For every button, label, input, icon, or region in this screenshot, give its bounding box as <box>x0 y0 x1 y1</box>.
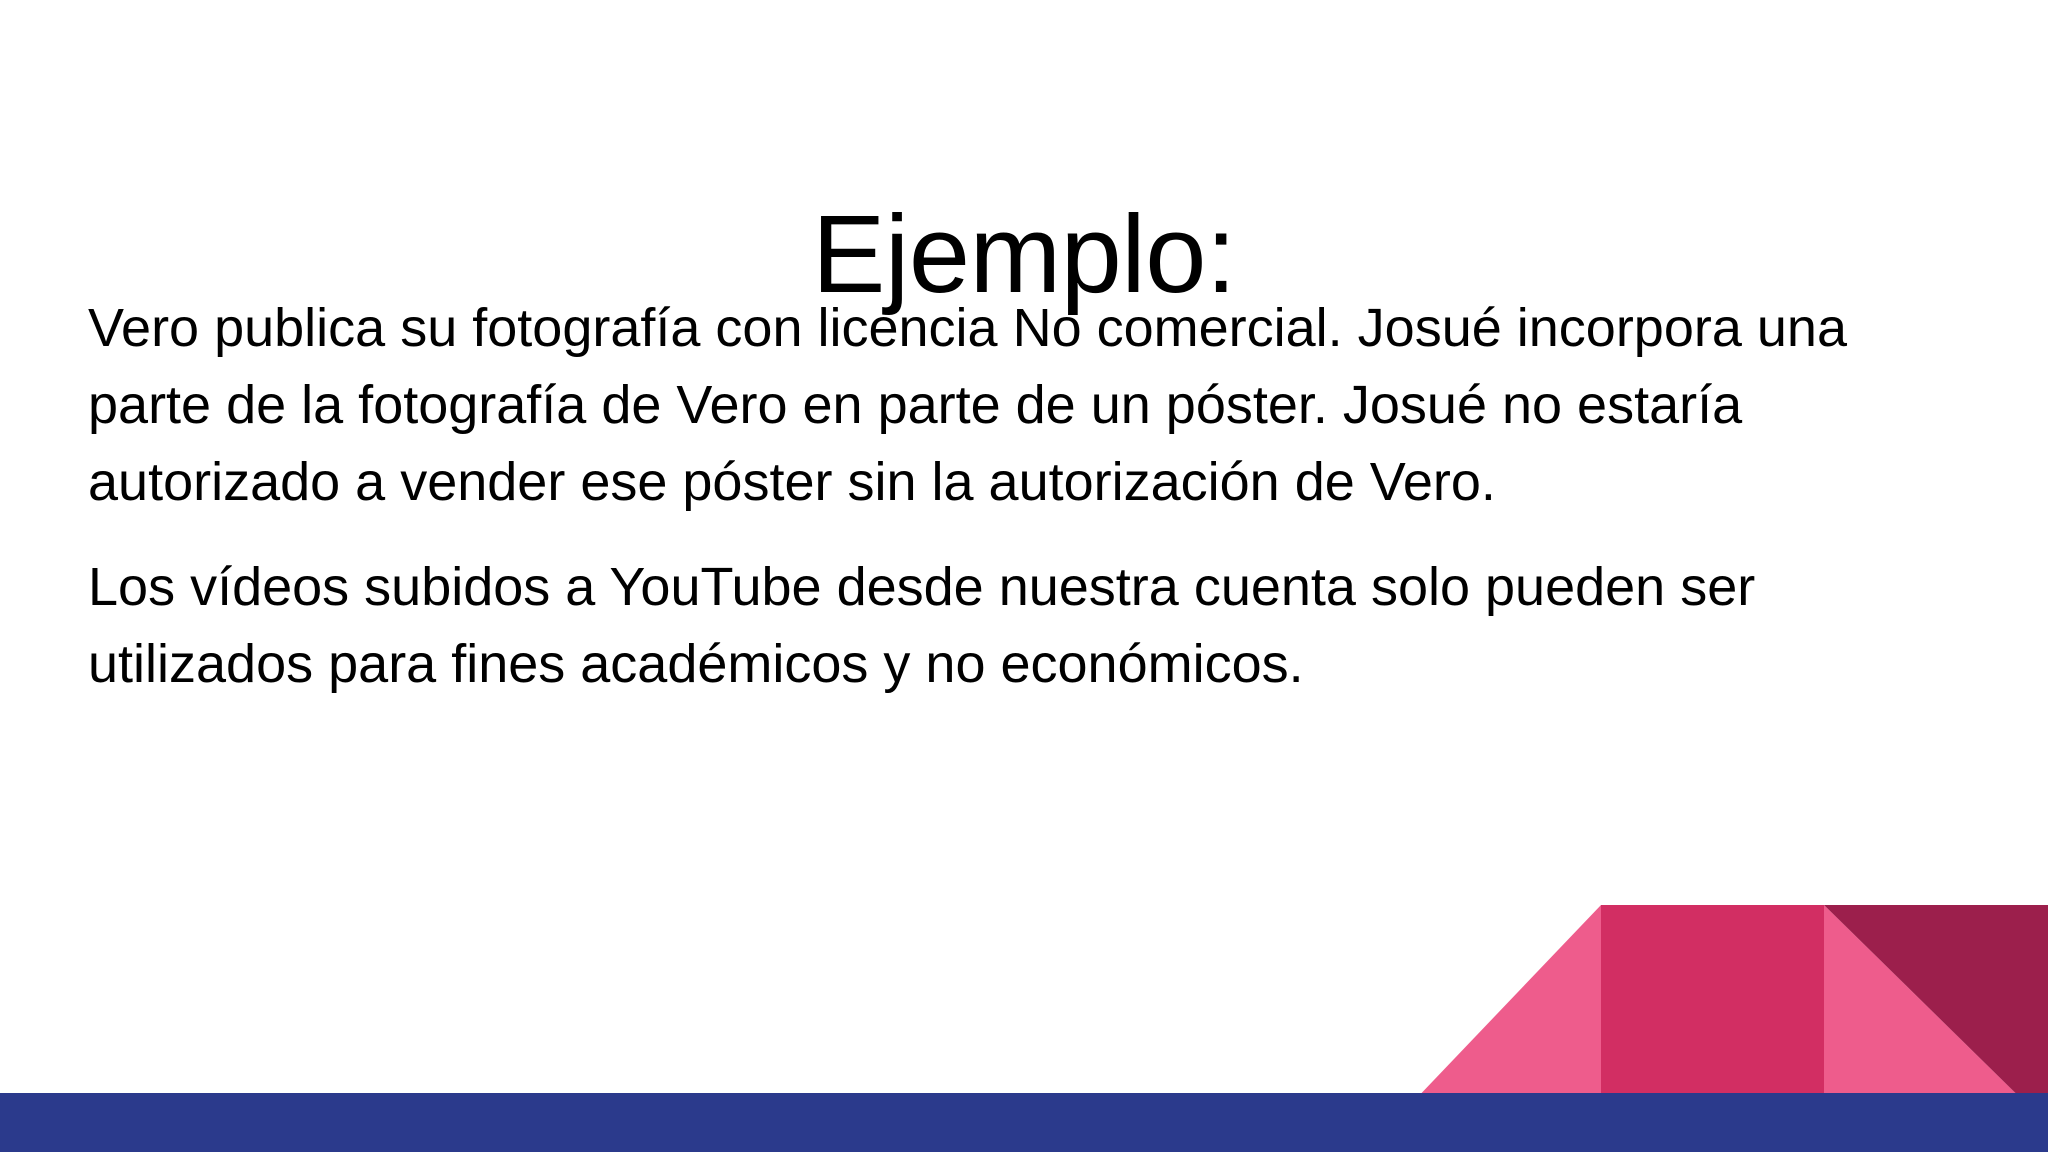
decoration-center-rectangle <box>1601 905 1824 1125</box>
body-paragraph-1: Vero publica su fotografía con licencia … <box>88 290 1956 521</box>
body-paragraph-2: Los vídeos subidos a YouTube desde nuest… <box>88 549 1956 703</box>
slide-canvas: Ejemplo: Vero publica su fotografía con … <box>0 0 2048 1152</box>
decoration-maroon-triangle <box>1824 905 2048 1125</box>
bottom-accent-bar <box>0 1093 2048 1152</box>
decoration-right-triangle <box>1824 905 2048 1125</box>
slide-body: Vero publica su fotografía con licencia … <box>88 290 1956 703</box>
decoration-left-triangle <box>1391 905 1601 1125</box>
